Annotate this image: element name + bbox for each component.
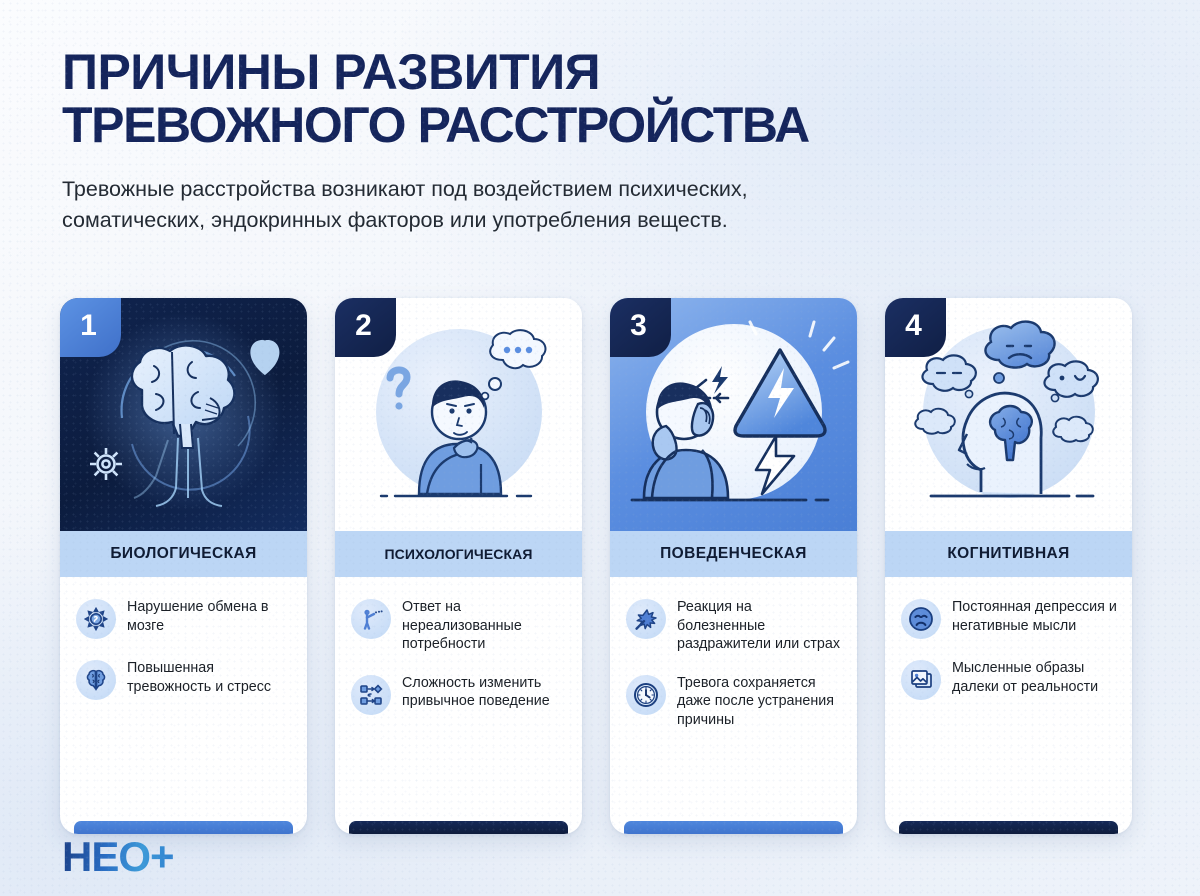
list-item: Повышенная тревожность и стресс [76,658,292,700]
list-item: Мысленные образы далеки от реальности [901,658,1117,700]
card-accent-bar [899,821,1118,834]
list-item: Ответ на нереализованные потребности [351,597,567,654]
card-behavioral[interactable]: 3 [610,298,857,834]
brand-logo: НЕО+ [62,836,174,878]
cards-row: 1 [60,298,1142,834]
card-bullets: Постоянная депрессия и негативные мысли … [885,577,1132,834]
card-accent-bar [349,821,568,834]
card-label: ПСИХОЛОГИЧЕСКАЯ [335,531,582,577]
card-number: 2 [355,311,372,341]
card-biological[interactable]: 1 [60,298,307,834]
card-number-badge: 4 [885,298,946,357]
page-title-line-2: ТРЕВОЖНОГО РАССТРОЙСТВА [62,99,1142,152]
list-item-label: Ответ на нереализованные потребности [402,597,567,654]
card-cognitive[interactable]: 4 [885,298,1132,834]
list-item-label: Нарушение обмена в мозге [127,597,292,635]
clock-icon [626,675,666,715]
flowchart-icon [351,675,391,715]
header: ПРИЧИНЫ РАЗВИТИЯ ТРЕВОЖНОГО РАССТРОЙСТВА… [62,46,1142,235]
infographic-page: ПРИЧИНЫ РАЗВИТИЯ ТРЕВОЖНОГО РАССТРОЙСТВА… [0,0,1200,896]
card-number-badge: 2 [335,298,396,357]
card-label: БИОЛОГИЧЕСКАЯ [60,531,307,577]
images-icon [901,660,941,700]
list-item-label: Тревога сохраняется даже после устранени… [677,673,842,730]
card-psychological[interactable]: 2 [335,298,582,834]
card-label: КОГНИТИВНАЯ [885,531,1132,577]
card-bullets: Нарушение обмена в мозге Повышенная трев… [60,577,307,834]
page-subtitle-line-1: Тревожные расстройства возникают под воз… [62,174,992,205]
card-number: 4 [905,311,922,341]
card-bullets: Реакция на болезненные раздражители или … [610,577,857,834]
gear-metabolism-icon [76,599,116,639]
page-title: ПРИЧИНЫ РАЗВИТИЯ ТРЕВОЖНОГО РАССТРОЙСТВА [62,46,1142,152]
card-number-badge: 1 [60,298,121,357]
page-subtitle: Тревожные расстройства возникают под воз… [62,174,992,235]
card-accent-bar [624,821,843,834]
list-item-label: Повышенная тревожность и стресс [127,658,292,696]
card-number-badge: 3 [610,298,671,357]
list-item-label: Постоянная депрессия и негативные мысли [952,597,1117,635]
person-reaching-icon [351,599,391,639]
list-item: Нарушение обмена в мозге [76,597,292,639]
list-item-label: Сложность изменить привычное поведение [402,673,567,711]
burst-impact-icon [626,599,666,639]
brain-icon [76,660,116,700]
page-title-line-1: ПРИЧИНЫ РАЗВИТИЯ [62,46,1142,99]
card-number: 1 [80,311,97,341]
page-subtitle-line-2: соматических, эндокринных факторов или у… [62,205,992,236]
card-bullets: Ответ на нереализованные потребности [335,577,582,834]
list-item: Тревога сохраняется даже после устранени… [626,673,842,730]
list-item-label: Реакция на болезненные раздражители или … [677,597,842,654]
list-item: Реакция на болезненные раздражители или … [626,597,842,654]
list-item: Постоянная депрессия и негативные мысли [901,597,1117,639]
sad-face-icon [901,599,941,639]
list-item: Сложность изменить привычное поведение [351,673,567,715]
card-number: 3 [630,311,647,341]
card-label: ПОВЕДЕНЧЕСКАЯ [610,531,857,577]
list-item-label: Мысленные образы далеки от реальности [952,658,1117,696]
